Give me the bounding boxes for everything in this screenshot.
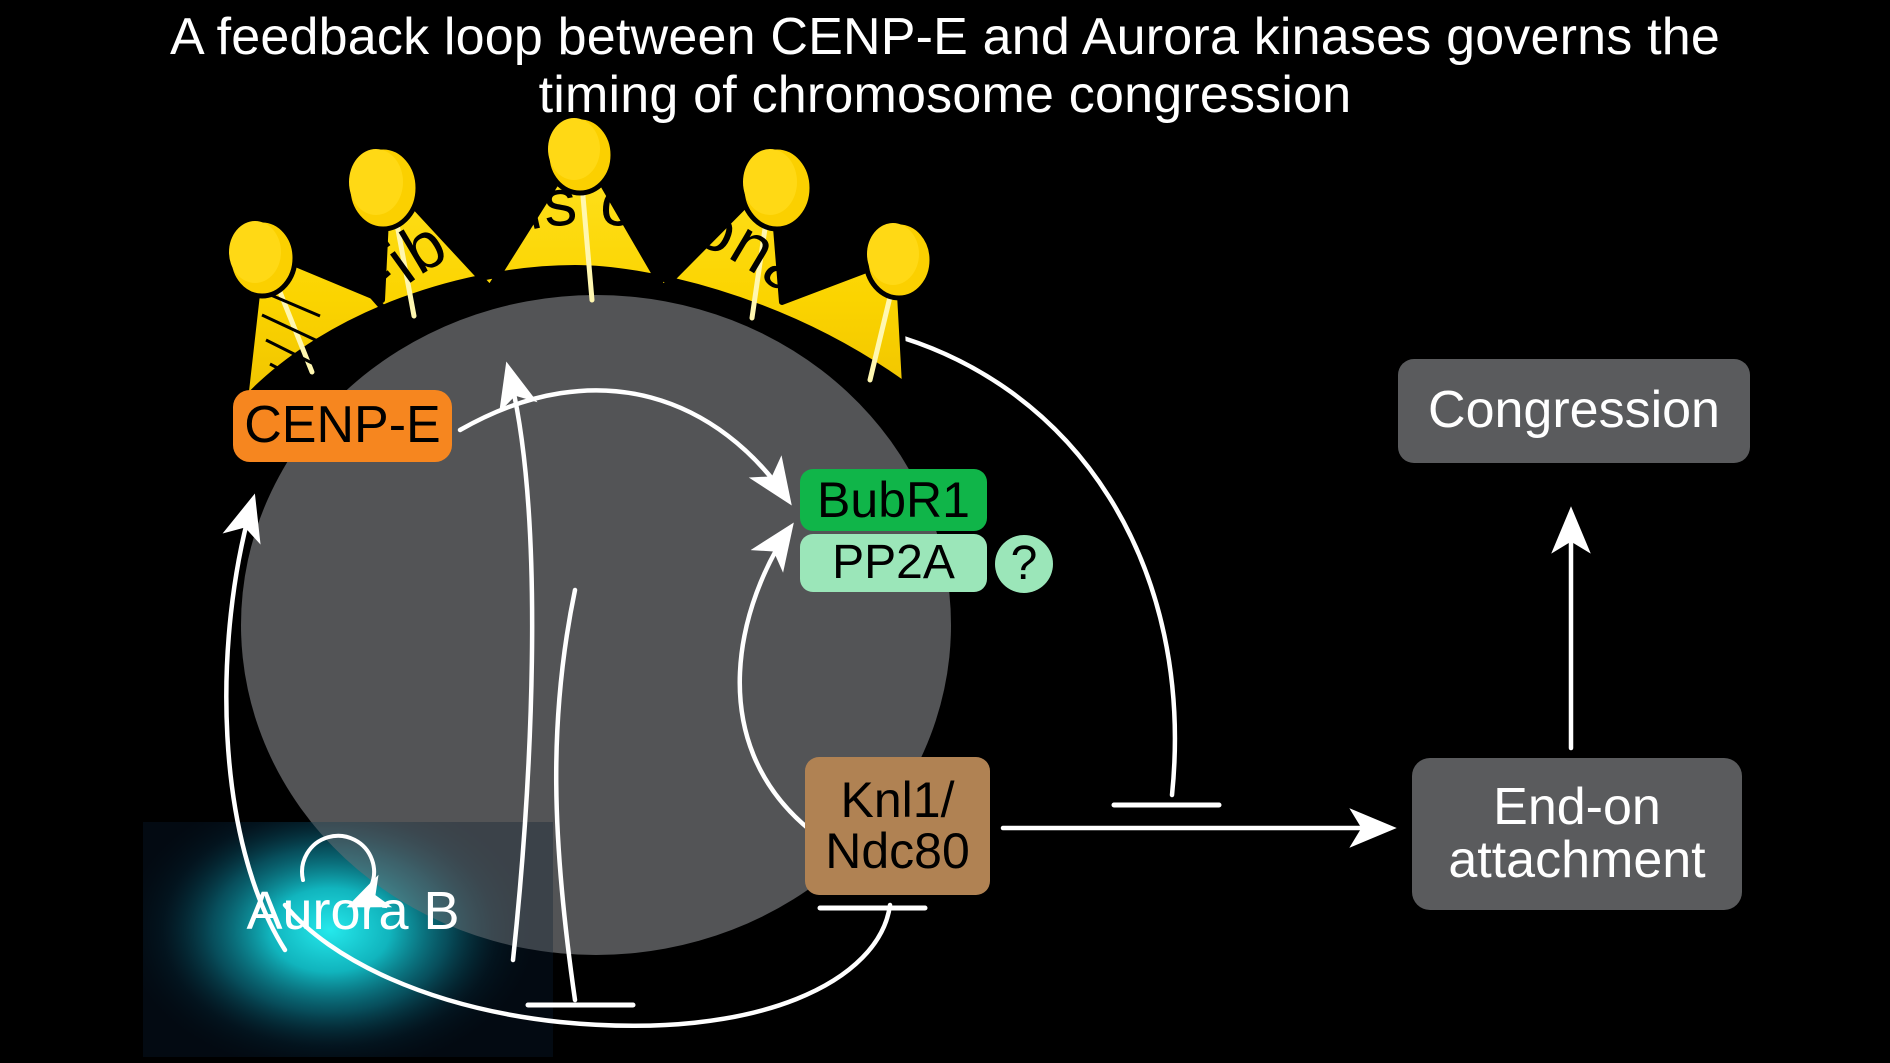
node-pp2a-label: PP2A: [832, 539, 955, 588]
node-pp2a[interactable]: PP2A: [800, 534, 987, 592]
node-bubr1-label: BubR1: [817, 475, 970, 526]
node-cenp-e[interactable]: CENP-E: [233, 390, 452, 462]
node-congression-label: Congression: [1428, 384, 1720, 437]
node-end-on-attachment[interactable]: End-on attachment: [1412, 758, 1742, 910]
node-cenp-e-label: CENP-E: [244, 399, 440, 452]
node-question-mark[interactable]: ?: [995, 535, 1053, 593]
node-knl1-ndc80-label: Knl1/ Ndc80: [825, 775, 970, 877]
node-aurora-b-label: Aurora B: [246, 880, 459, 942]
node-bubr1[interactable]: BubR1: [800, 469, 987, 531]
node-aurora-b[interactable]: Aurora B: [228, 880, 478, 942]
figure-canvas: A feedback loop between CENP-E and Auror…: [0, 0, 1890, 1063]
node-knl1-ndc80[interactable]: Knl1/ Ndc80: [805, 757, 990, 895]
node-question-mark-label: ?: [1011, 540, 1038, 589]
node-congression[interactable]: Congression: [1398, 359, 1750, 463]
node-end-on-attachment-label: End-on attachment: [1448, 781, 1705, 887]
